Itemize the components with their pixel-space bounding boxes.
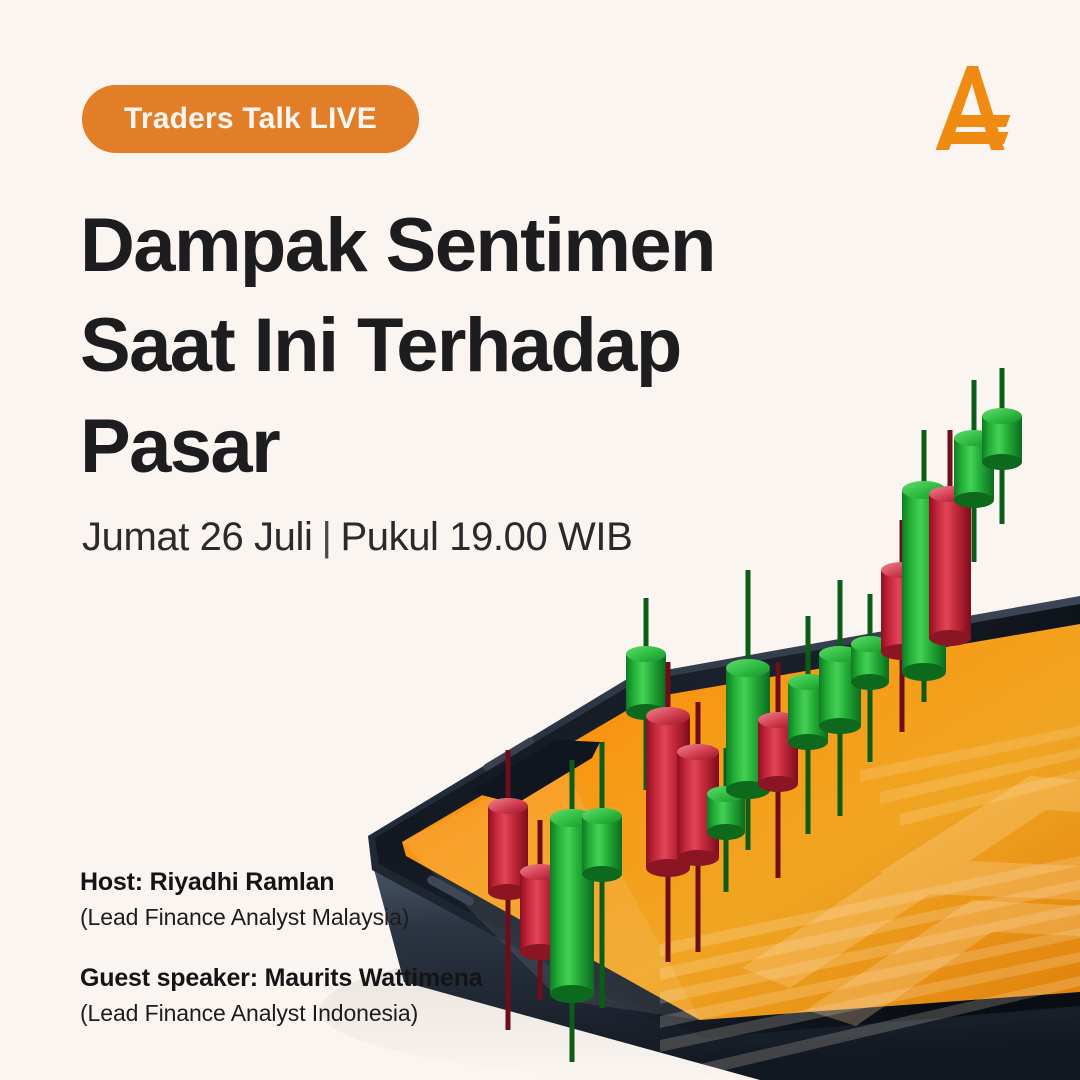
credits-block: Host: Riyadhi Ramlan (Lead Finance Analy… bbox=[80, 866, 640, 1029]
headline-line-3: Pasar bbox=[80, 397, 840, 497]
schedule-time: Pukul 19.00 WIB bbox=[340, 515, 632, 559]
headline-line-2: Saat Ini Terhadap bbox=[80, 296, 840, 396]
credit-host-role: (Lead Finance Analyst Malaysia) bbox=[80, 902, 640, 932]
headline-line-1: Dampak Sentimen bbox=[80, 196, 840, 296]
poster-content: Traders Talk LIVE Dampak Sentimen Saat I… bbox=[0, 0, 1080, 1080]
page-title: Dampak Sentimen Saat Ini Terhadap Pasar bbox=[80, 196, 840, 497]
schedule-line: Jumat 26 Juli|Pukul 19.00 WIB bbox=[82, 515, 632, 560]
credit-host-name: Host: Riyadhi Ramlan bbox=[80, 866, 640, 898]
poster-canvas: Traders Talk LIVE Dampak Sentimen Saat I… bbox=[0, 0, 1080, 1080]
credit-guest-role: (Lead Finance Analyst Indonesia) bbox=[80, 998, 640, 1028]
live-badge-label: Traders Talk LIVE bbox=[124, 102, 377, 136]
live-badge: Traders Talk LIVE bbox=[82, 85, 419, 153]
schedule-date: Jumat 26 Juli bbox=[82, 515, 312, 559]
schedule-separator: | bbox=[321, 515, 331, 560]
credit-host: Host: Riyadhi Ramlan (Lead Finance Analy… bbox=[80, 866, 640, 932]
octa-a-logo-icon bbox=[920, 58, 1025, 158]
credit-guest-name: Guest speaker: Maurits Wattimena bbox=[80, 962, 640, 994]
brand-logo bbox=[920, 58, 1025, 158]
credit-guest: Guest speaker: Maurits Wattimena (Lead F… bbox=[80, 962, 640, 1028]
